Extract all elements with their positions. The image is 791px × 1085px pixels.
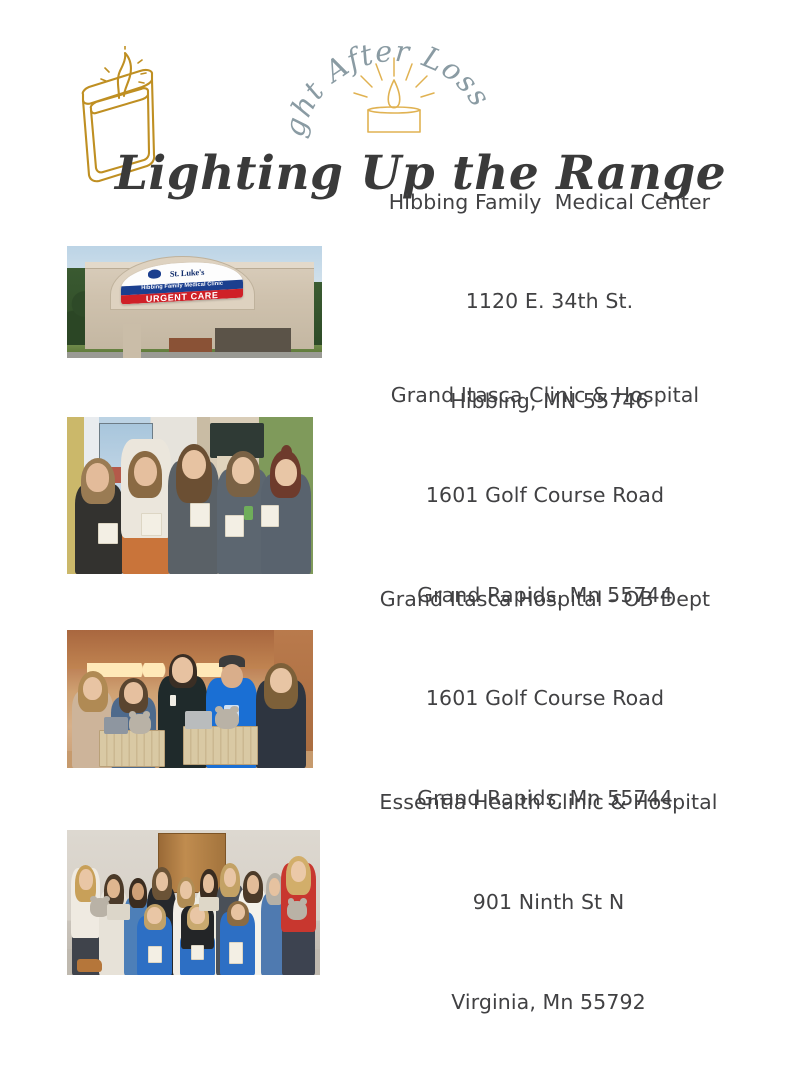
entry-name: Grand Itasca Hospital - OB Dept <box>327 583 763 616</box>
entry-address-block: Essentia Health Clinic & Hospital 901 Ni… <box>320 720 791 1085</box>
entry-street: 1601 Golf Course Road <box>327 479 763 512</box>
entry-street: 1601 Golf Course Road <box>327 682 763 715</box>
entry-city: Virginia, Mn 55792 <box>334 986 763 1019</box>
photo-essentia-health-staff <box>67 830 320 975</box>
entry-name: Essentia Health Clinic & Hospital <box>334 786 763 819</box>
gift-crate <box>99 730 165 767</box>
entry-row: Essentia Health Clinic & Hospital 901 Ni… <box>0 830 791 975</box>
photo-hibbing-clinic-sign: St. Luke's Hibbing Family Medical Clinic… <box>67 246 322 358</box>
photo-grand-itasca-staff <box>67 417 313 574</box>
photo-grand-itasca-ob-staff <box>67 630 313 768</box>
entry-name: Grand Itasca Clinic & Hospital <box>327 379 763 412</box>
clinic-sign: St. Luke's Hibbing Family Medical Clinic… <box>121 259 243 304</box>
entry-street: 901 Ninth St N <box>334 886 763 919</box>
entry-name: Hibbing Family Medical Center <box>336 186 763 219</box>
gift-crate <box>183 726 259 765</box>
